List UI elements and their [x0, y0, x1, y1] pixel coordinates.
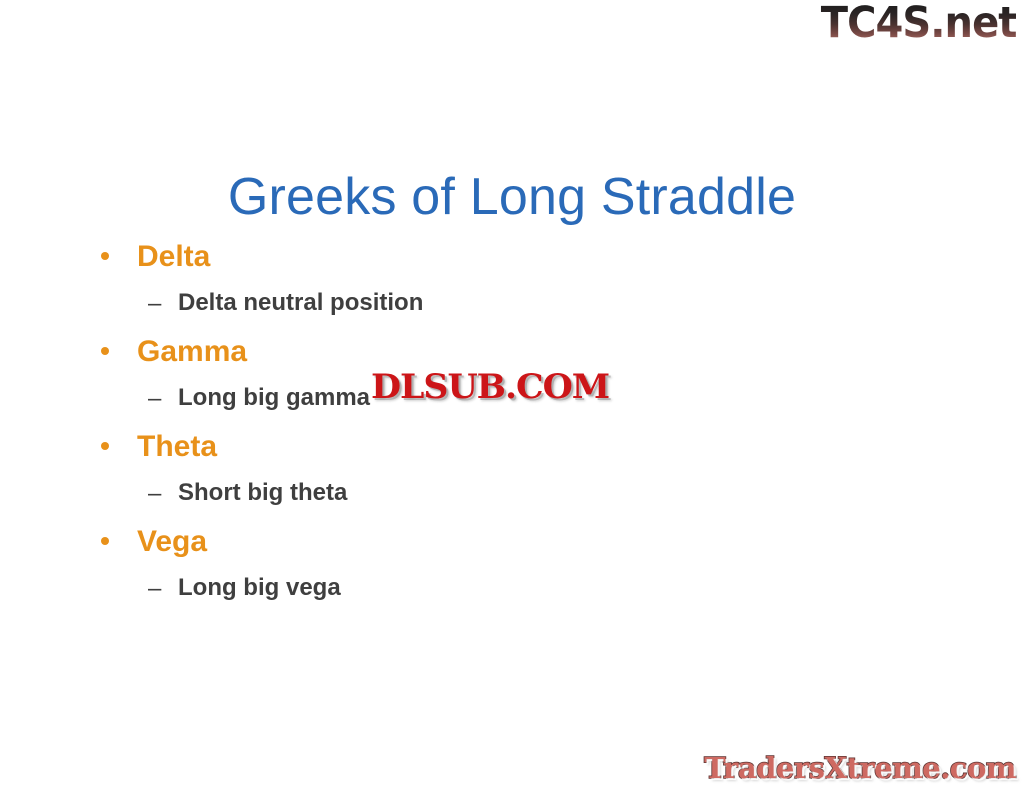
- sub-list-item-label: Short big theta: [178, 480, 347, 506]
- en-dash-icon: –: [148, 482, 178, 506]
- en-dash-icon: –: [148, 577, 178, 601]
- dlsub-watermark: DLSUB.COM: [371, 370, 609, 404]
- bullet-list: Delta – Delta neutral position Gamma – L…: [0, 232, 1024, 612]
- bullet-dot-icon: [101, 537, 109, 545]
- en-dash-icon: –: [148, 387, 178, 411]
- en-dash-icon: –: [148, 292, 178, 316]
- list-item-label: Vega: [137, 525, 207, 558]
- sub-list-item-delta: – Delta neutral position: [0, 280, 1024, 327]
- list-item-label: Gamma: [137, 335, 247, 368]
- sub-list-item-label: Long big gamma: [178, 385, 370, 411]
- page-title: Greeks of Long Straddle: [0, 168, 1024, 226]
- presentation-slide: TC4S.net Greeks of Long Straddle Delta –…: [0, 0, 1024, 791]
- list-item-theta: Theta: [0, 422, 1024, 470]
- sub-list-item-label: Delta neutral position: [178, 290, 423, 316]
- tc4s-logo: TC4S.net: [820, 2, 1016, 45]
- list-item-delta: Delta: [0, 232, 1024, 280]
- list-item-label: Delta: [137, 240, 210, 273]
- sub-list-item-label: Long big vega: [178, 575, 341, 601]
- bullet-dot-icon: [101, 442, 109, 450]
- bullet-dot-icon: [101, 347, 109, 355]
- tradersxtreme-watermark: TradersXtreme.com: [704, 754, 1016, 783]
- bullet-dot-icon: [101, 252, 109, 260]
- list-item-vega: Vega: [0, 517, 1024, 565]
- sub-list-item-theta: – Short big theta: [0, 470, 1024, 517]
- sub-list-item-vega: – Long big vega: [0, 565, 1024, 612]
- list-item-label: Theta: [137, 430, 217, 463]
